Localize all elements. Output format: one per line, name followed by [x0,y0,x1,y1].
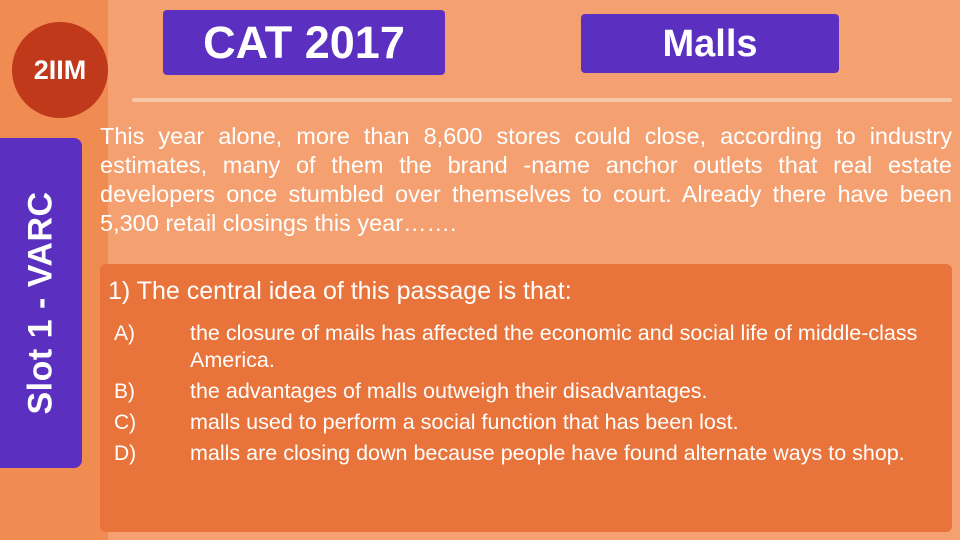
exam-title-badge: CAT 2017 [163,10,445,75]
option-row-d[interactable]: D) malls are closing down because people… [108,440,944,467]
option-label-c: C) [108,409,190,436]
option-label-a: A) [108,320,190,347]
option-label-b: B) [108,378,190,405]
option-row-c[interactable]: C) malls used to perform a social functi… [108,409,944,436]
passage-block: This year alone, more than 8,600 stores … [100,122,952,238]
question-panel: 1) The central idea of this passage is t… [100,264,952,532]
option-row-a[interactable]: A) the closure of mails has affected the… [108,320,944,374]
sidebar-vertical-tab-label: Slot 1 - VARC [22,191,61,414]
brand-logo: 2IIM [12,22,108,118]
option-text-b: the advantages of malls outweigh their d… [190,378,944,405]
brand-logo-text: 2IIM [34,57,87,84]
option-text-d: malls are closing down because people ha… [190,440,944,467]
option-row-b[interactable]: B) the advantages of malls outweigh thei… [108,378,944,405]
topic-badge: Malls [581,14,839,73]
option-label-d: D) [108,440,190,467]
option-text-c: malls used to perform a social function … [190,409,944,436]
option-text-a: the closure of mails has affected the ec… [190,320,944,374]
topic-text: Malls [662,25,757,63]
sidebar-vertical-tab[interactable]: Slot 1 - VARC [0,138,82,468]
options-list: A) the closure of mails has affected the… [108,320,944,471]
exam-title-text: CAT 2017 [203,20,405,65]
header-divider [132,98,952,102]
slide-root: 2IIM Slot 1 - VARC CAT 2017 Malls This y… [0,0,960,540]
passage-text: This year alone, more than 8,600 stores … [100,122,952,238]
question-text: 1) The central idea of this passage is t… [108,277,572,306]
